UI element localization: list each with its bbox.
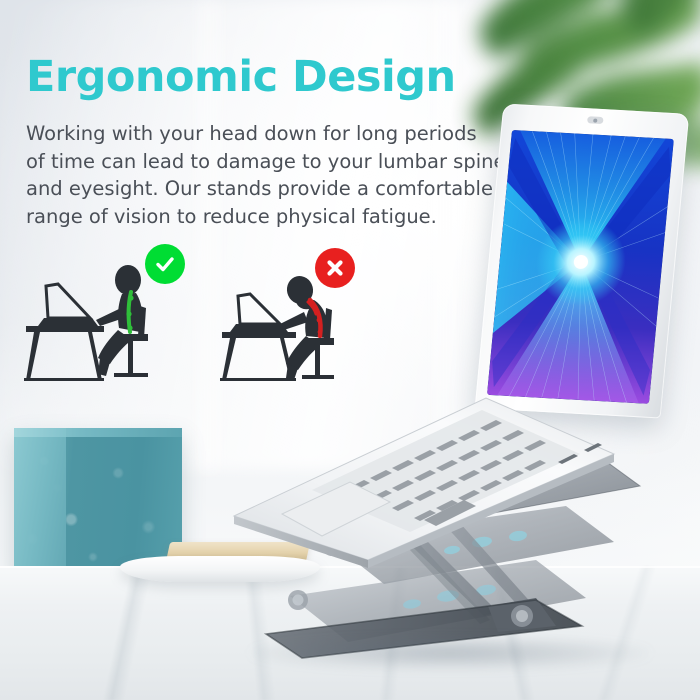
laptop-base	[228, 392, 620, 570]
body-copy: Working with your head down for long per…	[26, 120, 456, 231]
product-banner: Ergonomic Design Working with your head …	[0, 0, 700, 700]
laptop-screen	[487, 130, 674, 404]
teal-stone-block	[14, 428, 182, 578]
laptop-lid	[475, 103, 690, 418]
ground-shadow	[250, 636, 650, 670]
page-title: Ergonomic Design	[26, 52, 456, 102]
body-line: of time can lead to damage to your lumba…	[26, 148, 456, 176]
block-top-edge	[14, 428, 182, 437]
bad-posture-illustration	[212, 246, 382, 386]
body-line: Working with your head down for long per…	[26, 120, 456, 148]
good-posture-illustration	[18, 246, 198, 386]
cross-icon	[315, 248, 355, 288]
check-icon	[145, 244, 185, 284]
laptop-deck-graphic	[228, 392, 620, 570]
bad-posture-figure	[212, 246, 382, 386]
screen-wallpaper	[487, 130, 674, 404]
block-left-face	[14, 428, 66, 578]
body-line: range of vision to reduce physical fatig…	[26, 203, 456, 231]
body-line: and eyesight. Our stands provide a comfo…	[26, 175, 456, 203]
